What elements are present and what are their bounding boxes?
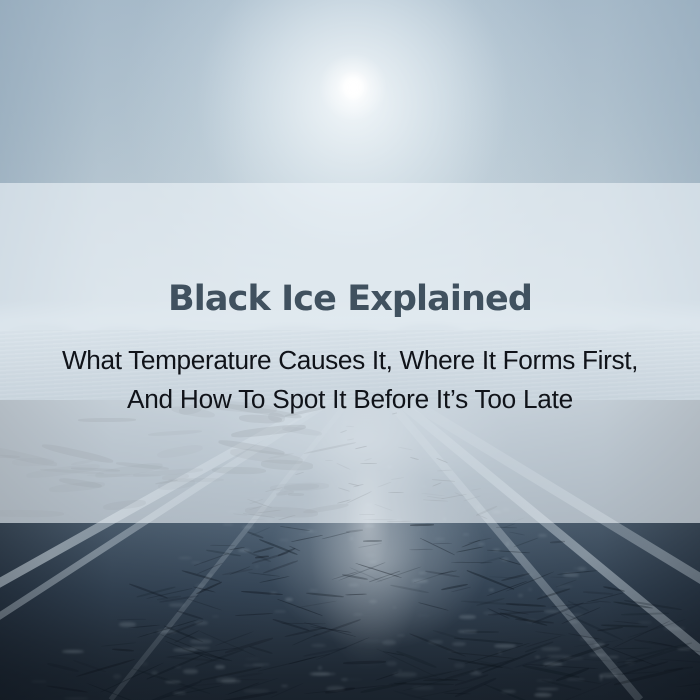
wet-sheen-highlight <box>215 665 225 668</box>
wet-sheen-highlight <box>578 567 585 571</box>
wet-sheen-highlight <box>392 523 397 525</box>
wet-sheen-highlight <box>173 692 187 694</box>
wet-sheen-highlight <box>326 686 345 691</box>
wet-sheen-highlight <box>309 672 330 676</box>
wet-sheen-highlight <box>285 598 293 601</box>
wet-sheen-highlight <box>190 639 212 643</box>
wet-sheen-highlight <box>119 622 136 626</box>
wet-sheen-highlight <box>350 537 353 540</box>
wet-sheen-highlight <box>353 614 363 615</box>
subtitle-line-2: And How To Spot It Before It’s Too Late <box>0 380 700 419</box>
wet-sheen-highlight <box>569 621 578 623</box>
wet-sheen-highlight <box>195 621 209 625</box>
wet-sheen-highlight <box>386 661 397 665</box>
wet-sheen-highlight <box>600 675 603 680</box>
page-subtitle: What Temperature Causes It, Where It For… <box>0 341 700 419</box>
wet-sheen-highlight <box>216 677 236 683</box>
wet-sheen-highlight <box>506 542 508 545</box>
wet-sheen-highlight <box>381 575 395 577</box>
wet-sheen-highlight <box>454 663 464 668</box>
wet-sheen-highlight <box>369 600 377 603</box>
wet-sheen-highlight <box>541 647 561 651</box>
wet-sheen-highlight <box>62 650 84 654</box>
wet-sheen-highlight <box>562 658 585 659</box>
wet-sheen-highlight <box>599 673 618 678</box>
wet-sheen-highlight <box>165 681 180 683</box>
wet-sheen-highlight <box>141 662 148 666</box>
wet-sheen-highlight <box>393 672 417 676</box>
wet-sheen-highlight <box>538 534 547 537</box>
wet-sheen-highlight <box>191 562 201 563</box>
wet-sheen-highlight <box>566 679 585 681</box>
wet-sheen-highlight <box>366 554 376 556</box>
wet-sheen-highlight <box>419 572 426 573</box>
wet-sheen-highlight <box>563 573 579 577</box>
wet-sheen-highlight <box>580 638 594 639</box>
wet-sheen-highlight <box>270 592 276 594</box>
wet-sheen-highlight <box>452 642 466 646</box>
wet-sheen-highlight <box>494 644 516 648</box>
ice-crack <box>363 540 382 542</box>
wet-sheen-highlight <box>212 616 219 617</box>
wet-sheen-highlight <box>279 539 289 541</box>
caption-text-layer: Black Ice Explained What Temperature Cau… <box>0 183 700 523</box>
wet-sheen-highlight <box>459 615 476 619</box>
wet-sheen-highlight <box>238 549 250 552</box>
wet-sheen-highlight <box>417 615 430 616</box>
wet-sheen-highlight <box>535 656 540 658</box>
subtitle-line-1: What Temperature Causes It, Where It For… <box>0 341 700 380</box>
wet-sheen-highlight <box>493 549 500 551</box>
page-title: Black Ice Explained <box>0 278 700 320</box>
wet-sheen-highlight <box>412 686 434 690</box>
wet-sheen-highlight <box>416 528 420 530</box>
wet-sheen-highlight <box>435 538 444 540</box>
wet-sheen-highlight <box>569 614 583 615</box>
wet-sheen-highlight <box>178 557 192 559</box>
wet-sheen-highlight <box>526 619 537 623</box>
wet-sheen-highlight <box>255 565 259 568</box>
wet-sheen-highlight <box>362 640 382 642</box>
poster-canvas: Black Ice Explained What Temperature Cau… <box>0 0 700 700</box>
wet-sheen-highlight <box>243 689 270 693</box>
wet-sheen-highlight <box>458 630 477 632</box>
wet-sheen-highlight <box>113 674 121 678</box>
wet-sheen-highlight <box>169 603 186 606</box>
wet-sheen-highlight <box>147 633 155 634</box>
wet-sheen-highlight <box>318 666 323 670</box>
wet-sheen-highlight <box>298 534 311 535</box>
wet-sheen-highlight <box>410 585 421 587</box>
wet-sheen-highlight <box>64 698 90 699</box>
wet-sheen-highlight <box>175 666 181 667</box>
wet-sheen-highlight <box>428 640 443 643</box>
sun-icon <box>346 78 361 97</box>
wet-sheen-highlight <box>183 669 198 674</box>
wet-sheen-highlight <box>594 643 605 646</box>
wet-sheen-highlight <box>274 611 286 612</box>
wet-sheen-highlight <box>544 610 560 613</box>
wet-sheen-highlight <box>664 627 685 629</box>
wet-sheen-highlight <box>245 658 260 660</box>
